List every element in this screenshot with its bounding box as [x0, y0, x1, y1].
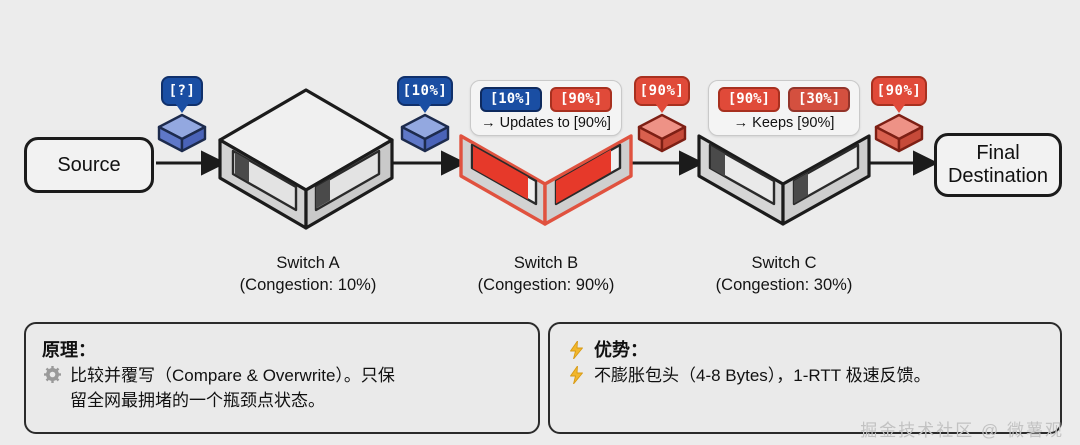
panel-advantage-head: 优势：: [566, 336, 1044, 362]
node-destination-label-line1: Final: [976, 142, 1019, 165]
panel-principle-title: 原理：: [42, 336, 96, 362]
watermark: 掘金技术社区 @ 微薯观: [860, 416, 1064, 441]
node-source[interactable]: Source: [24, 137, 154, 193]
switch-c-tag-incoming: [90%]: [718, 87, 780, 112]
switch-a-icon[interactable]: [218, 86, 398, 232]
panel-principle-head: 原理：: [42, 336, 522, 362]
switch-b-tag-local: [90%]: [550, 87, 612, 112]
packet-cube-3: [873, 112, 925, 154]
panel-advantage-line1: 不膨胀包头（4-8 Bytes），1-RTT 极速反馈。: [594, 364, 931, 389]
switch-b-callout: [10%] [90%] → Updates to [90%]: [470, 80, 622, 136]
packet-cube-1: [399, 112, 451, 154]
panel-principle-line2: 留全网最拥堵的一个瓶颈点状态。: [70, 391, 325, 410]
switch-a-name: Switch A: [208, 252, 408, 274]
packet-badge-3: [90%]: [871, 76, 927, 106]
switch-b-callout-note: → Updates to [90%]: [481, 115, 611, 131]
packet-badge-1: [10%]: [397, 76, 453, 106]
switch-b-tag-row: [10%] [90%]: [480, 87, 612, 112]
packet-badge-2-text: [90%]: [640, 83, 685, 99]
packet-badge-3-text: [90%]: [877, 83, 922, 99]
switch-c-tag-local: [30%]: [788, 87, 850, 112]
diagram-canvas: Source Final Destination Switch A (Conge…: [0, 0, 1080, 445]
switch-b-tag-incoming: [10%]: [480, 87, 542, 112]
switch-b-congestion: (Congestion: 90%): [446, 274, 646, 296]
packet-badge-0-text: [?]: [169, 83, 196, 99]
switch-c-callout: [90%] [30%] → Keeps [90%]: [708, 80, 860, 136]
packet-cube-0: [156, 112, 208, 154]
panel-advantage-title: 优势：: [594, 336, 648, 362]
packet-badge-0: [?]: [161, 76, 203, 106]
node-destination-label-line2: Destination: [948, 165, 1048, 188]
switch-c-callout-note: → Keeps [90%]: [734, 115, 835, 131]
switch-c-label: Switch C (Congestion: 30%): [684, 252, 884, 297]
bolt-icon: [566, 339, 586, 359]
panel-principle: 原理： 比较并覆写（Compare & Overwrite）。只保 留全网: [24, 322, 540, 434]
gear-icon: [42, 364, 62, 413]
switch-c-name: Switch C: [684, 252, 884, 274]
switch-a-congestion: (Congestion: 10%): [208, 274, 408, 296]
node-final-destination[interactable]: Final Destination: [934, 133, 1062, 197]
packet-badge-2: [90%]: [634, 76, 690, 106]
panel-principle-body: 比较并覆写（Compare & Overwrite）。只保 留全网最拥堵的一个瓶…: [42, 364, 522, 413]
switch-a-label: Switch A (Congestion: 10%): [208, 252, 408, 297]
panel-advantage-body: 不膨胀包头（4-8 Bytes），1-RTT 极速反馈。: [566, 364, 1044, 389]
panel-principle-text: 比较并覆写（Compare & Overwrite）。只保 留全网最拥堵的一个瓶…: [70, 364, 395, 413]
switch-b-label: Switch B (Congestion: 90%): [446, 252, 646, 297]
switch-b-name: Switch B: [446, 252, 646, 274]
bolt-icon-2: [566, 364, 586, 389]
panel-principle-line1: 比较并覆写（Compare & Overwrite）。只保: [70, 366, 395, 385]
switch-c-tag-row: [90%] [30%]: [718, 87, 850, 112]
switch-c-congestion: (Congestion: 30%): [684, 274, 884, 296]
node-source-label: Source: [57, 154, 120, 177]
packet-badge-1-text: [10%]: [403, 83, 448, 99]
packet-cube-2: [636, 112, 688, 154]
